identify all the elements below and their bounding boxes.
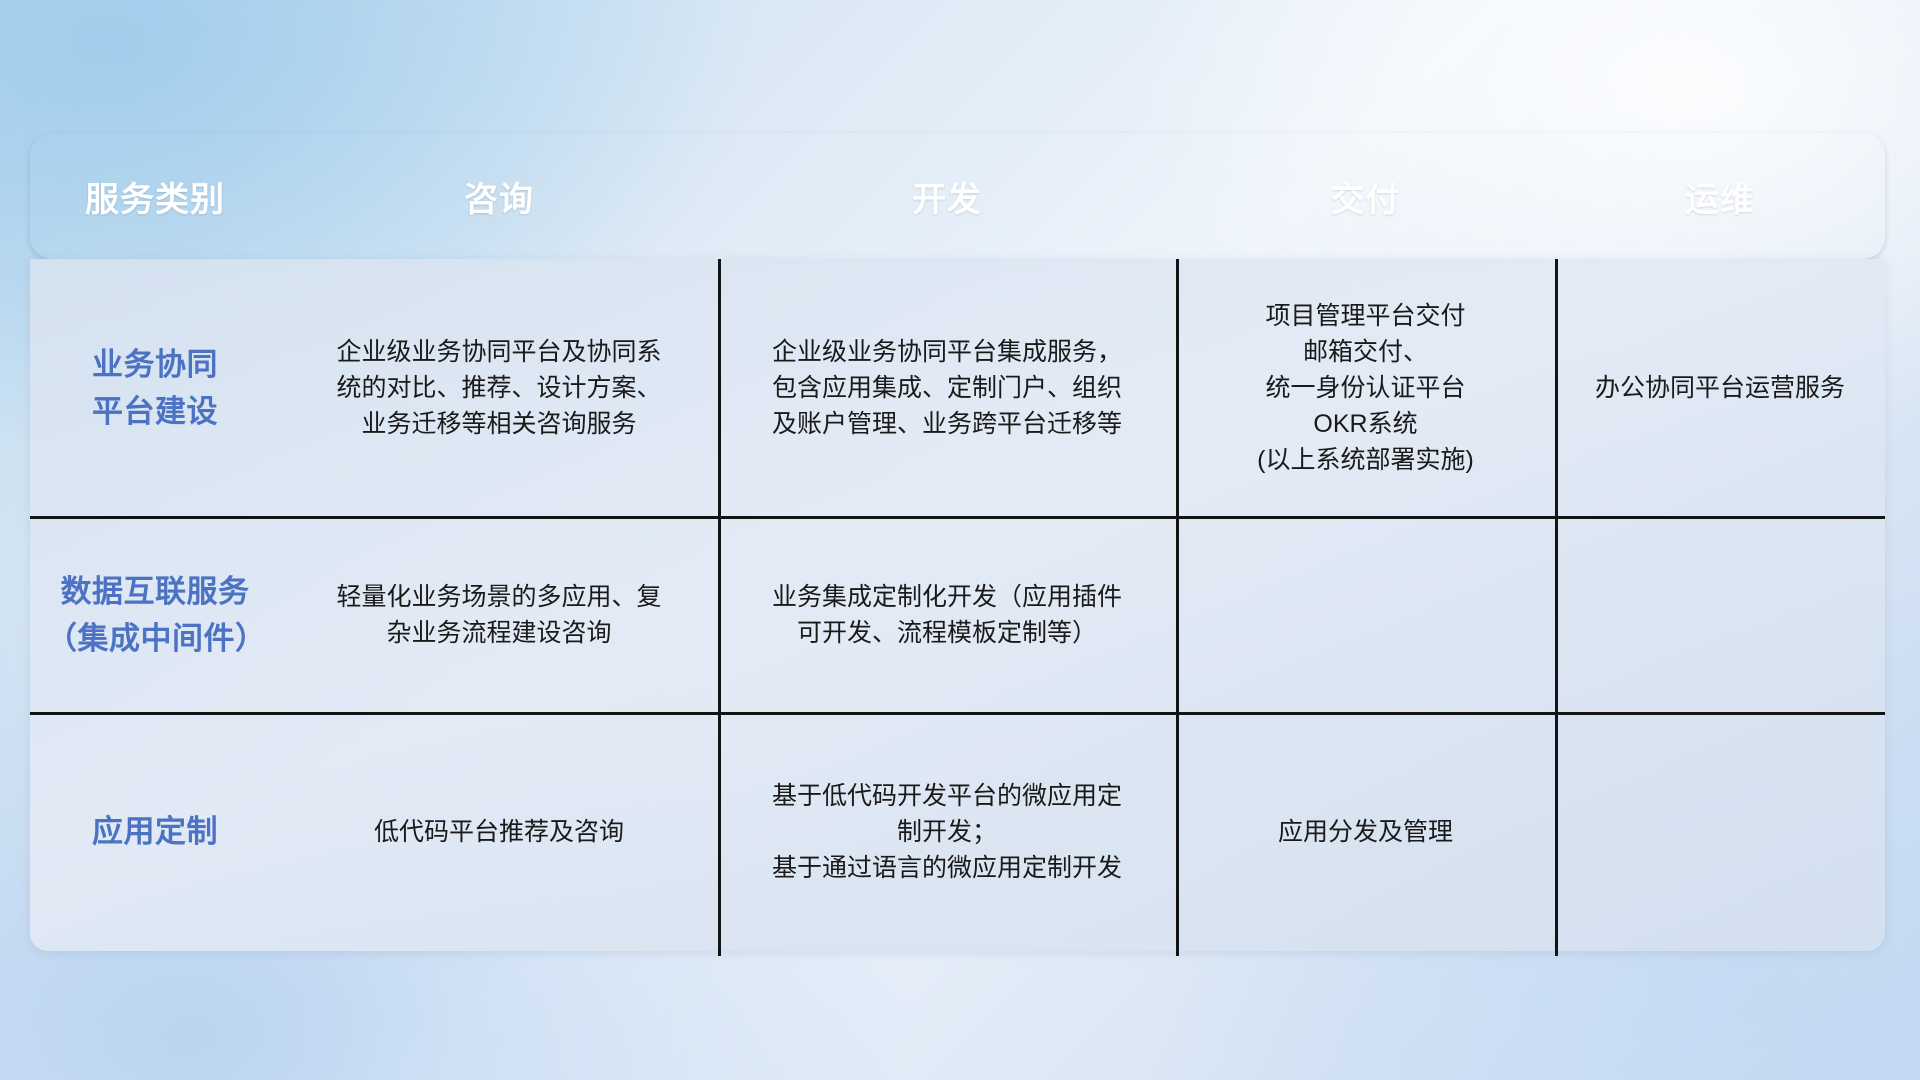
header-cell-service-category: 服务类别 xyxy=(30,172,280,221)
row-operations-cell: 办公协同平台运营服务 xyxy=(1555,370,1885,406)
table-header-bar: 服务类别 咨询 开发 交付 运维 xyxy=(30,133,1885,259)
row-delivery-cell: 应用分发及管理 xyxy=(1176,814,1555,850)
header-cell-consulting: 咨询 xyxy=(280,172,718,221)
table-header-row: 服务类别 咨询 开发 交付 运维 xyxy=(30,133,1885,259)
service-matrix-table: 服务类别 咨询 开发 交付 运维 业务协同 平台建设 企业级业务协同平台及协同系… xyxy=(30,133,1885,951)
table-row: 数据互联服务 （集成中间件） 轻量化业务场景的多应用、复 杂业务流程建设咨询 业… xyxy=(30,517,1885,713)
slide-canvas: 服务类别 咨询 开发 交付 运维 业务协同 平台建设 企业级业务协同平台及协同系… xyxy=(0,0,1920,1080)
header-cell-operations: 运维 xyxy=(1555,172,1885,221)
table-row: 应用定制 低代码平台推荐及咨询 基于低代码开发平台的微应用定 制开发； 基于通过… xyxy=(30,713,1885,951)
row-consulting-cell: 企业级业务协同平台及协同系 统的对比、推荐、设计方案、 业务迁移等相关咨询服务 xyxy=(280,334,718,442)
row-development-cell: 业务集成定制化开发（应用插件 可开发、流程模板定制等） xyxy=(718,579,1176,651)
row-category-label: 应用定制 xyxy=(30,808,280,855)
table-body: 业务协同 平台建设 企业级业务协同平台及协同系 统的对比、推荐、设计方案、 业务… xyxy=(30,259,1885,951)
row-category-label: 数据互联服务 （集成中间件） xyxy=(30,568,280,662)
row-consulting-cell: 轻量化业务场景的多应用、复 杂业务流程建设咨询 xyxy=(280,579,718,651)
header-cell-development: 开发 xyxy=(718,172,1176,221)
table-row: 业务协同 平台建设 企业级业务协同平台及协同系 统的对比、推荐、设计方案、 业务… xyxy=(30,259,1885,517)
row-consulting-cell: 低代码平台推荐及咨询 xyxy=(280,814,718,850)
row-development-cell: 基于低代码开发平台的微应用定 制开发； 基于通过语言的微应用定制开发 xyxy=(718,778,1176,886)
row-development-cell: 企业级业务协同平台集成服务， 包含应用集成、定制门户、组织 及账户管理、业务跨平… xyxy=(718,334,1176,442)
row-delivery-cell: 项目管理平台交付 邮箱交付、 统一身份认证平台 OKR系统 (以上系统部署实施) xyxy=(1176,298,1555,478)
header-cell-delivery: 交付 xyxy=(1176,172,1555,221)
row-category-label: 业务协同 平台建设 xyxy=(30,341,280,435)
